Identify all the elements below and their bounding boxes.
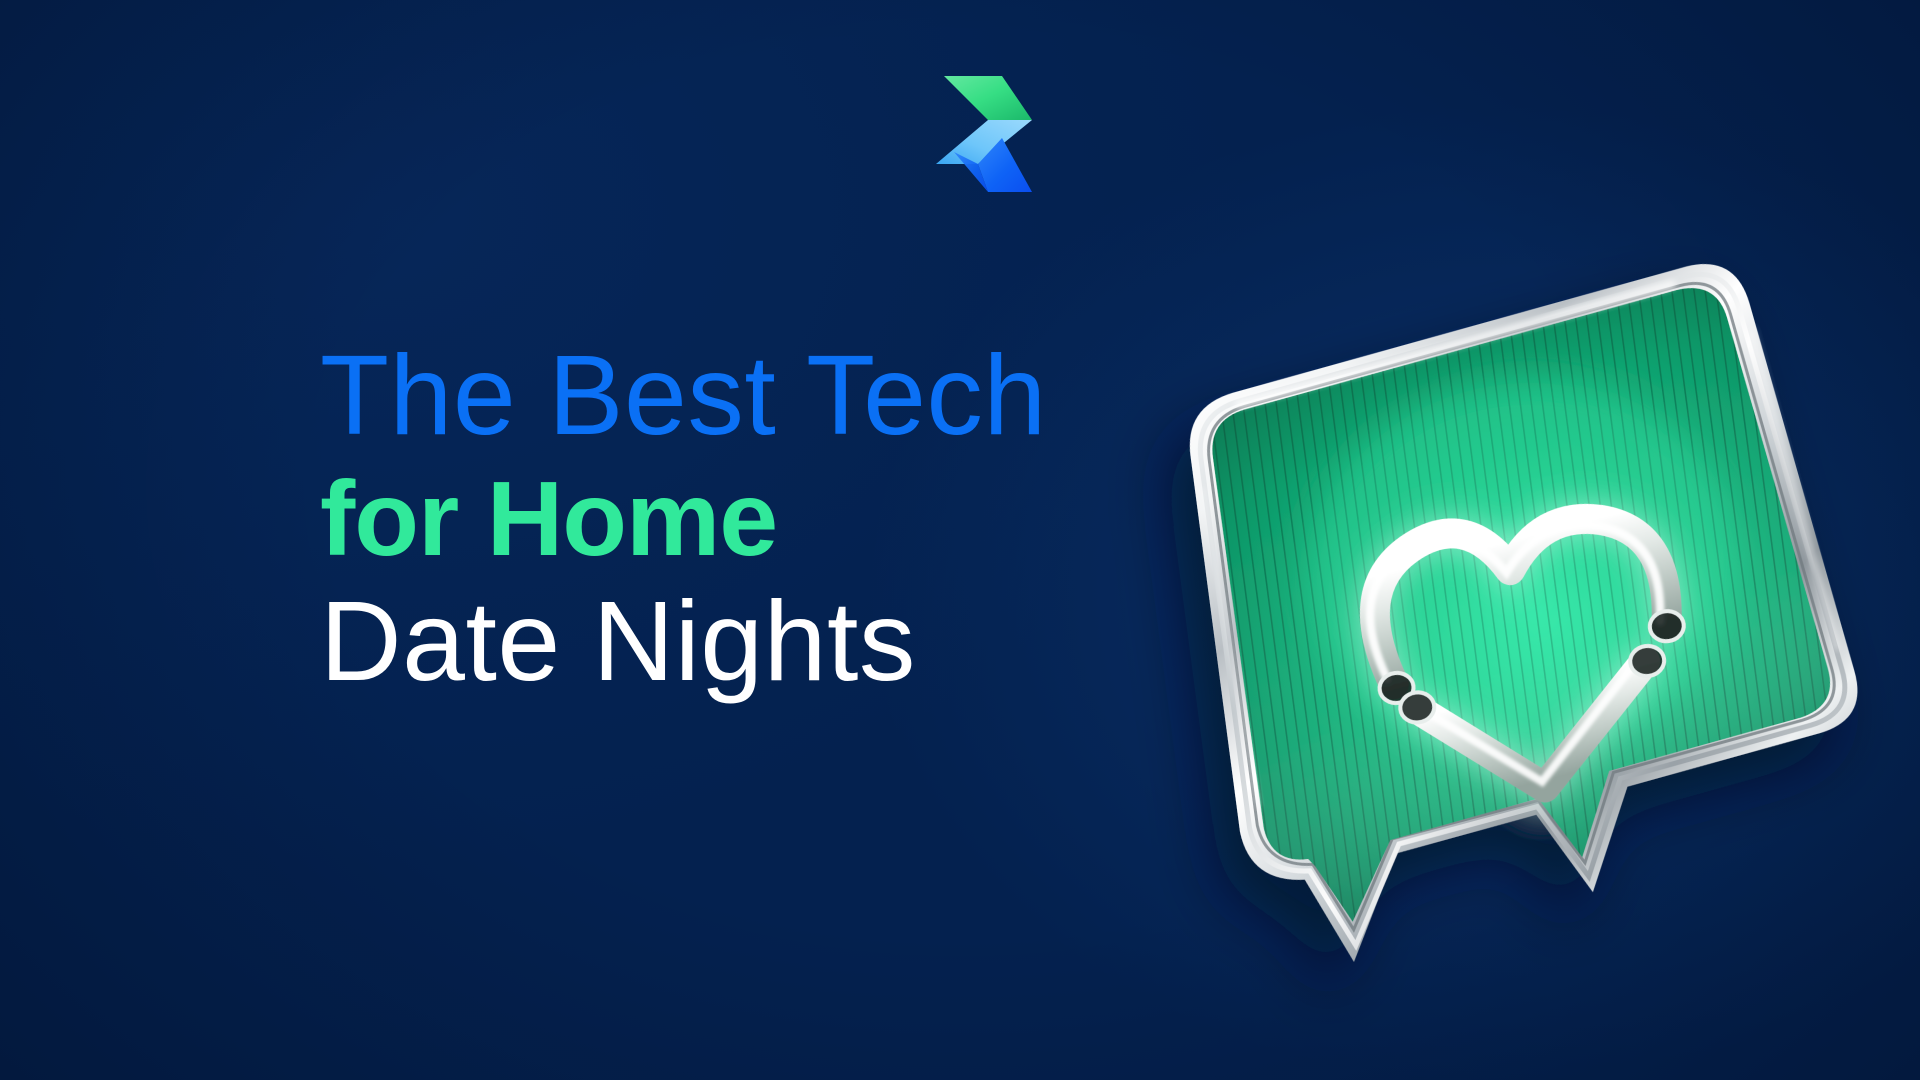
zdnet-chevron-logo[interactable] xyxy=(928,68,1040,200)
logo-facet-blue-mid xyxy=(936,120,1032,164)
headline-line-2: for Home xyxy=(320,457,1180,582)
hero-banner: The Best Tech for Home Date Nights xyxy=(0,0,1920,1080)
headline-line-3: Date Nights xyxy=(320,576,1180,707)
speech-bubble-graphic xyxy=(1120,270,1910,990)
logo-facet-green xyxy=(944,76,1032,120)
bubble-body xyxy=(1168,247,1911,1007)
headline-block: The Best Tech for Home Date Nights xyxy=(320,330,1180,707)
headline-line-1: The Best Tech xyxy=(320,330,1180,461)
